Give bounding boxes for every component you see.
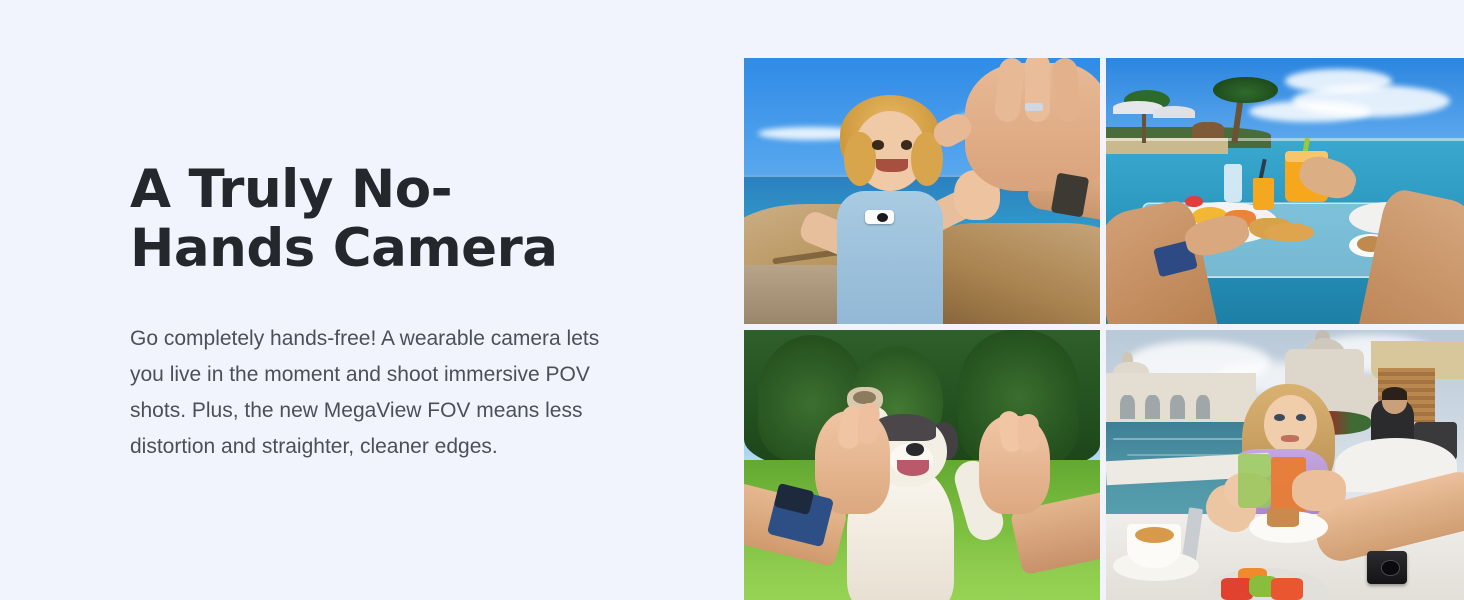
copy-block: A Truly No-Hands Camera Go completely ha… [130,160,630,465]
dog-high-five-illustration [744,330,1100,600]
body-description: Go completely hands-free! A wearable cam… [130,321,625,465]
photo-pool-breakfast [1106,58,1464,324]
venice-toast-illustration [1106,330,1464,600]
page-title: A Truly No-Hands Camera [130,160,630,279]
photo-venice-toast [1106,330,1464,600]
kid-high-five-illustration [744,58,1100,324]
promo-section: A Truly No-Hands Camera Go completely ha… [0,0,1464,600]
pool-breakfast-illustration [1106,58,1464,324]
photo-kid-high-five [744,58,1100,324]
photo-dog-high-five [744,330,1100,600]
photo-gallery-grid [744,58,1464,600]
